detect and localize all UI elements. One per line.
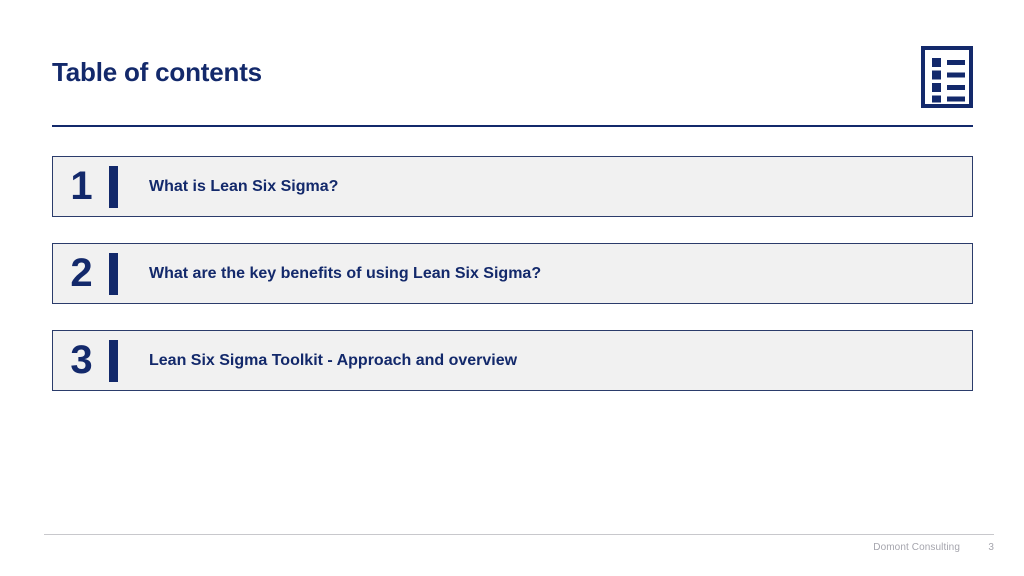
toc-item-accent-bar [109,253,118,295]
header-divider [52,125,973,127]
footer-divider [44,534,994,535]
slide-footer: Domont Consulting 3 [44,534,1004,564]
page-title: Table of contents [52,58,262,87]
toc-item[interactable]: 2 What are the key benefits of using Lea… [52,243,973,304]
toc-item[interactable]: 1 What is Lean Six Sigma? [52,156,973,217]
slide-header: Table of contents [52,40,973,126]
toc-item-label: What is Lean Six Sigma? [118,177,972,196]
table-of-contents-list: 1 What is Lean Six Sigma? 2 What are the… [52,156,973,391]
footer-page-number: 3 [986,542,994,553]
toc-item-accent-bar [109,166,118,208]
toc-item-label: Lean Six Sigma Toolkit - Approach and ov… [118,351,972,370]
toc-item-label: What are the key benefits of using Lean … [118,264,972,283]
toc-item[interactable]: 3 Lean Six Sigma Toolkit - Approach and … [52,330,973,391]
footer-company-name: Domont Consulting [873,542,960,553]
toc-item-accent-bar [109,340,118,382]
footer-content: Domont Consulting 3 [873,542,994,553]
toc-item-number: 2 [53,253,109,295]
list-document-icon [921,46,973,108]
toc-item-number: 3 [53,340,109,382]
slide: Table of contents 1 [0,0,1024,576]
toc-item-number: 1 [53,166,109,208]
